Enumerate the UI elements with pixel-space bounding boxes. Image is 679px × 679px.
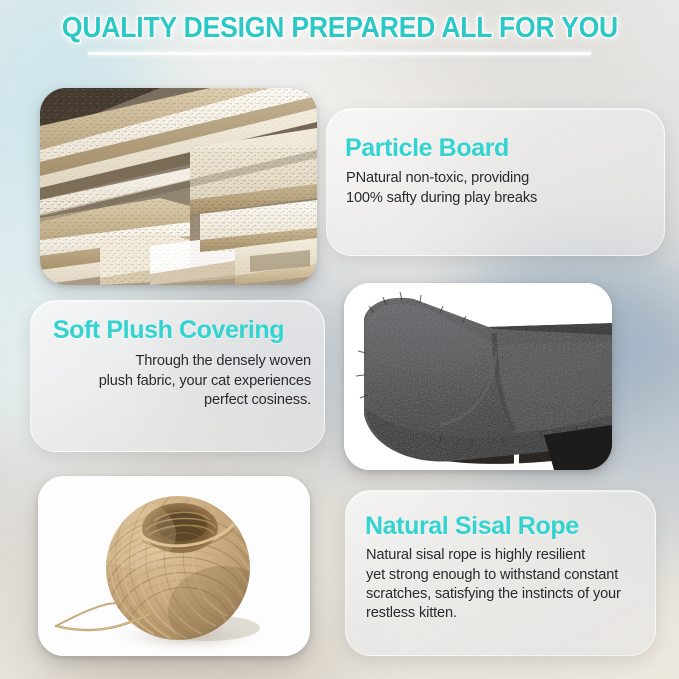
sisal-rope-illustration	[38, 476, 310, 656]
feature-title-natural-sisal-rope: Natural Sisal Rope	[365, 513, 655, 539]
feature-body-line: 100% safty during play breaks	[346, 189, 664, 208]
feature-card-soft-plush-covering: Soft Plush Covering Through the densely …	[30, 300, 325, 452]
feature-body-particle-board: PNatural non-toxic, providing 100% safty…	[346, 169, 664, 208]
page-title: QUALITY DESIGN PREPARED ALL FOR YOU	[61, 14, 617, 43]
feature-card-natural-sisal-rope: Natural Sisal Rope Natural sisal rope is…	[345, 490, 656, 656]
feature-body-line: perfect cosiness.	[31, 391, 311, 410]
feature-body-line: Natural sisal rope is highly resilient	[366, 546, 655, 565]
feature-body-line: Through the densely woven	[31, 352, 311, 371]
feature-title-particle-board: Particle Board	[345, 135, 664, 161]
plush-fabric-illustration	[344, 283, 612, 470]
plush-fabric-svg	[344, 283, 612, 470]
plush-fabric-photo	[344, 283, 612, 470]
particle-board-svg	[40, 88, 317, 285]
feature-body-line: plush fabric, your cat experiences	[31, 372, 311, 391]
sisal-rope-photo	[38, 476, 310, 656]
feature-body-line: yet strong enough to withstand constant	[366, 566, 655, 585]
page-header: QUALITY DESIGN PREPARED ALL FOR YOU	[0, 14, 679, 43]
feature-title-soft-plush-covering: Soft Plush Covering	[31, 317, 306, 343]
title-underline	[88, 52, 591, 55]
particle-board-photo	[40, 88, 317, 285]
feature-body-natural-sisal-rope: Natural sisal rope is highly resilient y…	[366, 546, 655, 624]
particle-board-illustration	[40, 88, 317, 285]
feature-card-particle-board: Particle Board PNatural non-toxic, provi…	[326, 108, 665, 256]
feature-body-line: restless kitten.	[366, 604, 655, 623]
feature-body-soft-plush-covering: Through the densely woven plush fabric, …	[31, 352, 311, 410]
feature-body-line: PNatural non-toxic, providing	[346, 169, 664, 188]
feature-body-line: scratches, satisfying the instincts of y…	[366, 585, 655, 604]
sisal-rope-svg	[38, 476, 310, 656]
